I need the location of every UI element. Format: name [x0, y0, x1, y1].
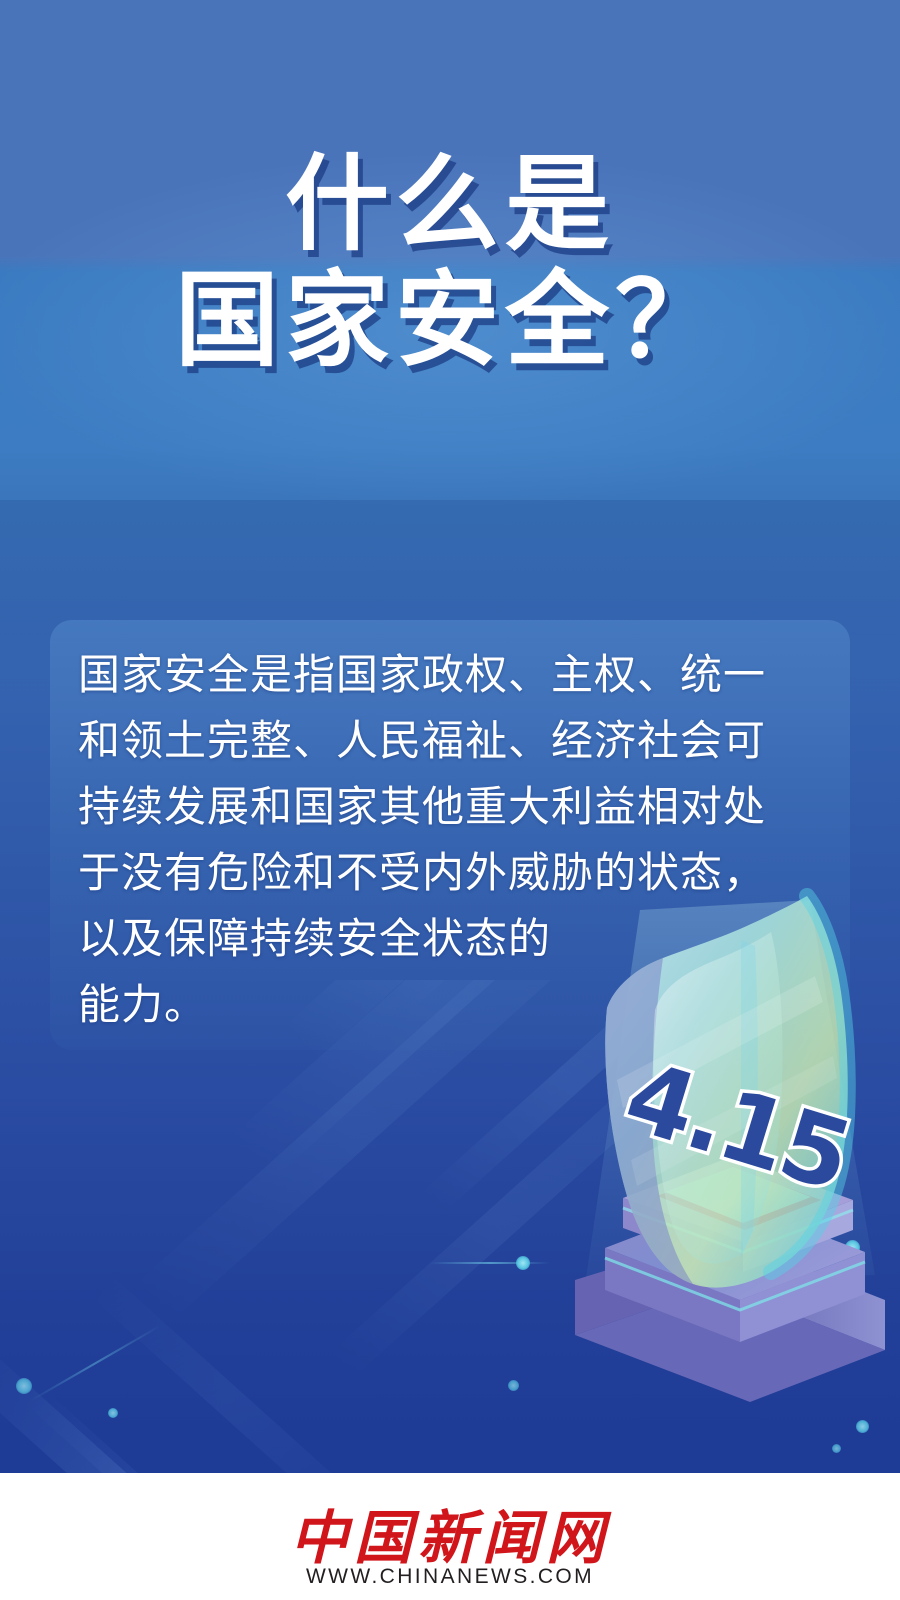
circuit-line-3 [30, 1325, 161, 1402]
chinanews-website-url: WWW.CHINANEWS.COM [0, 1565, 900, 1589]
glow-dot-4 [16, 1378, 32, 1394]
glow-dot-3 [508, 1380, 519, 1391]
title-line-2: 国家安全？ [0, 262, 900, 378]
chinanews-logo-text: 中国新闻网 [0, 1491, 900, 1575]
footer-bar: 中国新闻网 WWW.CHINANEWS.COM [0, 1473, 900, 1600]
circuit-line-1 [430, 1262, 550, 1264]
title-line-1: 什么是 [0, 146, 900, 262]
glow-dot-1 [516, 1256, 530, 1270]
shield-emblem-graphic: 4.15 [545, 880, 900, 1440]
decorative-streaks-left [0, 1080, 560, 1500]
poster-canvas: 什么是 国家安全？ 国家安全是指国家政权、主权、统一 和领土完整、人民福祉、经济… [0, 0, 900, 1600]
glow-dot-7 [832, 1444, 841, 1453]
poster-title: 什么是 国家安全？ [0, 146, 900, 378]
glow-dot-5 [108, 1408, 118, 1418]
